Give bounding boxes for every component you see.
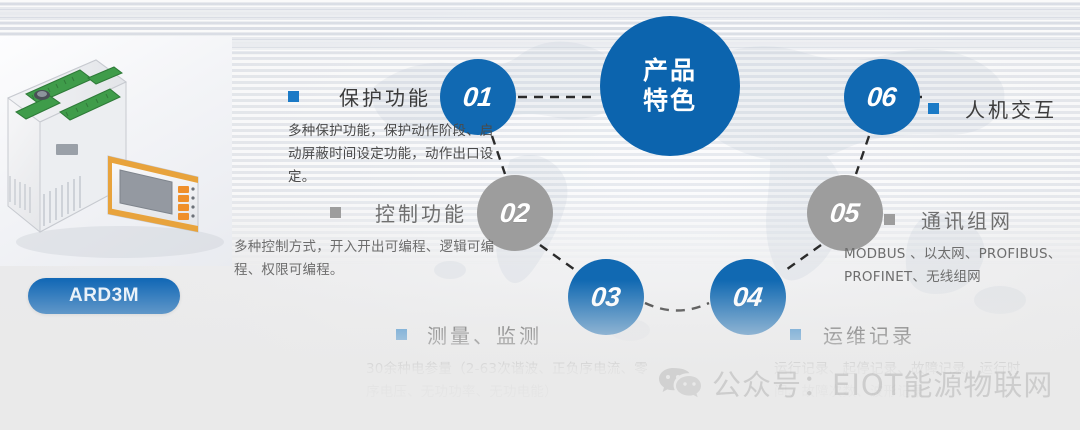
feature-05-heading: 通讯组网 — [884, 205, 1080, 234]
node-05: 05 — [807, 175, 883, 251]
node-06: 06 — [844, 59, 920, 135]
feature-02-title: 控制功能 — [375, 198, 467, 227]
feature-06-title: 人机交互 — [965, 94, 1057, 123]
wechat-icon — [658, 366, 702, 400]
link-06-05 — [856, 136, 869, 174]
feature-02-heading: 控制功能 — [330, 198, 620, 227]
slide-canvas: ARD3M 产品 特色 01 02 03 04 05 06 — [0, 0, 1080, 430]
feature-01-title: 保护功能 — [339, 82, 431, 111]
feature-item-06: 人机交互 — [928, 94, 1080, 123]
feature-01-description: 多种保护功能，保护动作阶段、启动屏蔽时间设定功能，动作出口设定。 — [288, 120, 500, 190]
center-circle: 产品 特色 — [600, 16, 740, 156]
bottom-fade-overlay — [0, 280, 1080, 430]
center-line-1: 产品 — [643, 56, 697, 87]
feature-01-heading: 保护功能 — [288, 82, 518, 111]
feature-item-05: 通讯组网 MODBUS 、以太网、PROFIBUS、PROFINET、无线组网 — [884, 205, 1080, 289]
feature-02-description: 多种控制方式，开入开出可编程、逻辑可编程、权限可编程。 — [234, 236, 519, 282]
feature-05-title: 通讯组网 — [921, 205, 1013, 234]
center-line-2: 特色 — [643, 86, 697, 117]
watermark: 公众号：EIOT能源物联网 — [658, 362, 1053, 404]
node-05-number: 05 — [829, 198, 861, 229]
link-05-04 — [783, 245, 821, 272]
feature-item-02: 控制功能 多种控制方式，开入开出可编程、逻辑可编程、权限可编程。 — [330, 198, 620, 282]
feature-item-01: 保护功能 多种保护功能，保护动作阶段、启动屏蔽时间设定功能，动作出口设定。 — [288, 82, 518, 190]
node-06-number: 06 — [866, 82, 898, 113]
bullet-square-icon — [288, 91, 299, 102]
bullet-square-icon — [928, 103, 939, 114]
bullet-square-icon — [884, 214, 895, 225]
feature-06-heading: 人机交互 — [928, 94, 1080, 123]
watermark-text: 公众号：EIOT能源物联网 — [712, 362, 1053, 404]
bullet-square-icon — [330, 207, 341, 218]
